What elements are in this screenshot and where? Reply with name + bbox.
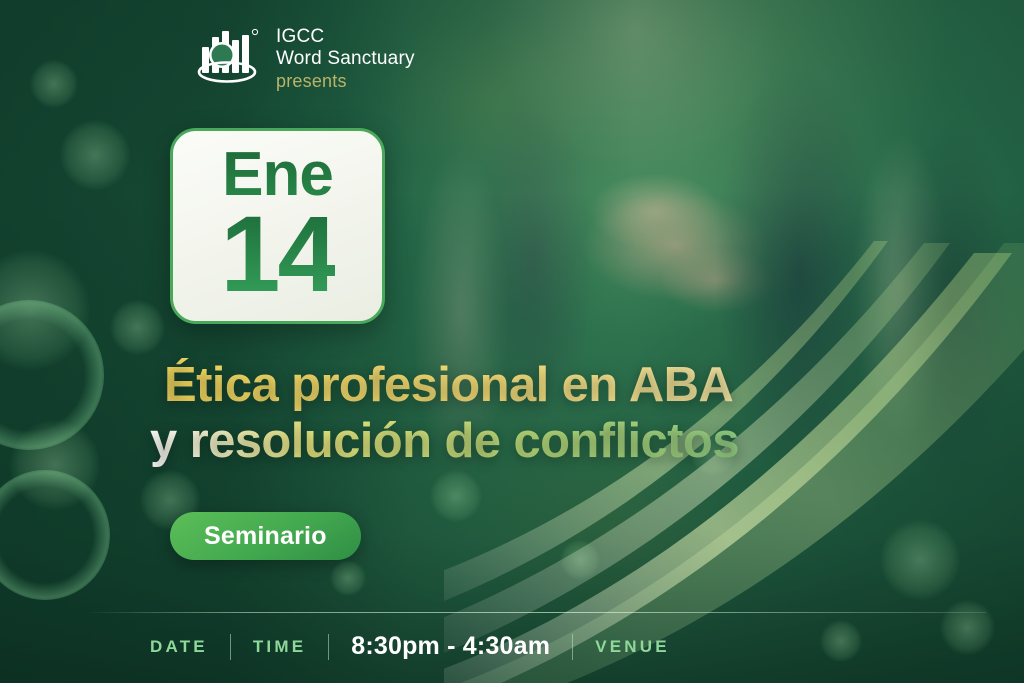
vignette-overlay bbox=[0, 0, 1024, 683]
event-type-label: Seminario bbox=[204, 522, 327, 551]
footer-date-label: DATE bbox=[150, 637, 208, 657]
event-type-badge: Seminario bbox=[170, 512, 361, 560]
footer-time-value: 8:30pm - 4:30am bbox=[351, 632, 550, 661]
footer-divider bbox=[86, 612, 986, 613]
page-title: Ética profesional en ABA y resolución de… bbox=[164, 358, 864, 470]
event-poster: IGCC Word Sanctuary presents Ene 14 Étic… bbox=[0, 0, 1024, 683]
footer-time-label: TIME bbox=[253, 637, 306, 657]
igcc-bars-circle-logo-icon bbox=[196, 27, 262, 89]
brand-presents-label: presents bbox=[276, 71, 415, 91]
brand-logo: IGCC Word Sanctuary presents bbox=[196, 26, 415, 91]
brand-line-2: Word Sanctuary bbox=[276, 48, 415, 69]
footer-info-bar: DATE TIME 8:30pm - 4:30am VENUE bbox=[150, 632, 670, 661]
footer-separator-3 bbox=[572, 634, 573, 660]
footer-venue-label: VENUE bbox=[595, 637, 670, 657]
brand-line-1: IGCC bbox=[276, 26, 415, 47]
date-badge-day: 14 bbox=[220, 204, 334, 303]
footer-separator-2 bbox=[328, 634, 329, 660]
footer-separator-1 bbox=[230, 634, 231, 660]
headline-line-1: Ética profesional en ABA bbox=[164, 358, 864, 414]
date-badge: Ene 14 bbox=[170, 128, 385, 324]
headline-line-2: y resolución de conflictos bbox=[150, 414, 864, 470]
